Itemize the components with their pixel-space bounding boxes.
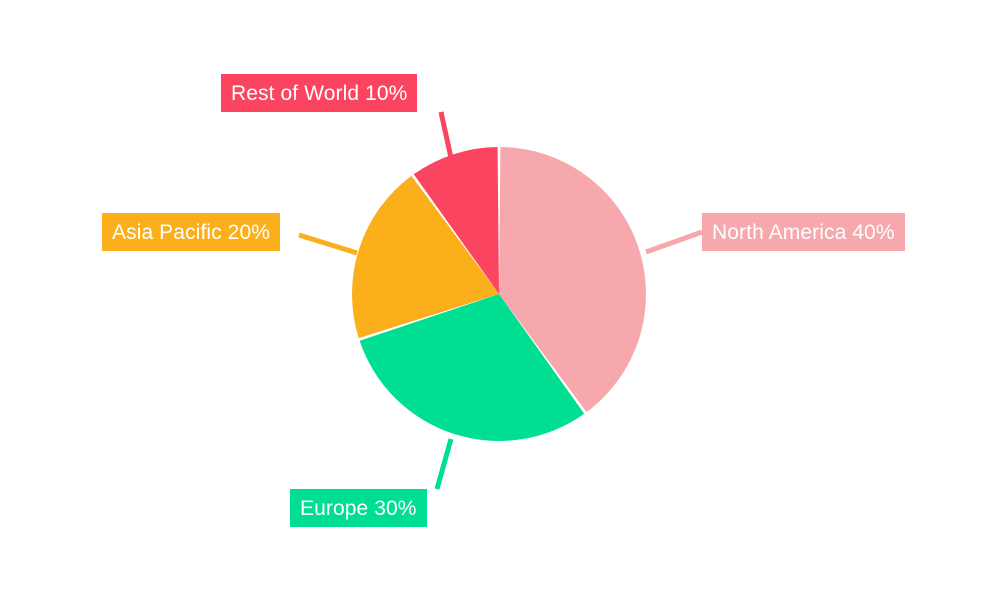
pie-chart: North America 40% Europe 30% Asia Pacifi…: [0, 0, 1000, 600]
pie-label-europe[interactable]: Europe 30%: [290, 489, 427, 527]
pie-label-north-america[interactable]: North America 40%: [702, 213, 905, 251]
leader-line-asia-pacific: [299, 235, 357, 253]
pie-label-rest-of-world[interactable]: Rest of World 10%: [221, 74, 417, 112]
pie-label-north-america-text: North America 40%: [712, 222, 895, 243]
leader-line-europe: [437, 439, 451, 489]
leader-line-north-america: [646, 232, 702, 252]
pie-label-europe-text: Europe 30%: [300, 498, 417, 519]
pie-label-asia-pacific-text: Asia Pacific 20%: [112, 222, 270, 243]
pie-label-rest-of-world-text: Rest of World 10%: [231, 83, 407, 104]
pie-chart-canvas: [0, 0, 1000, 600]
pie-slices: [352, 147, 646, 441]
pie-label-asia-pacific[interactable]: Asia Pacific 20%: [102, 213, 280, 251]
